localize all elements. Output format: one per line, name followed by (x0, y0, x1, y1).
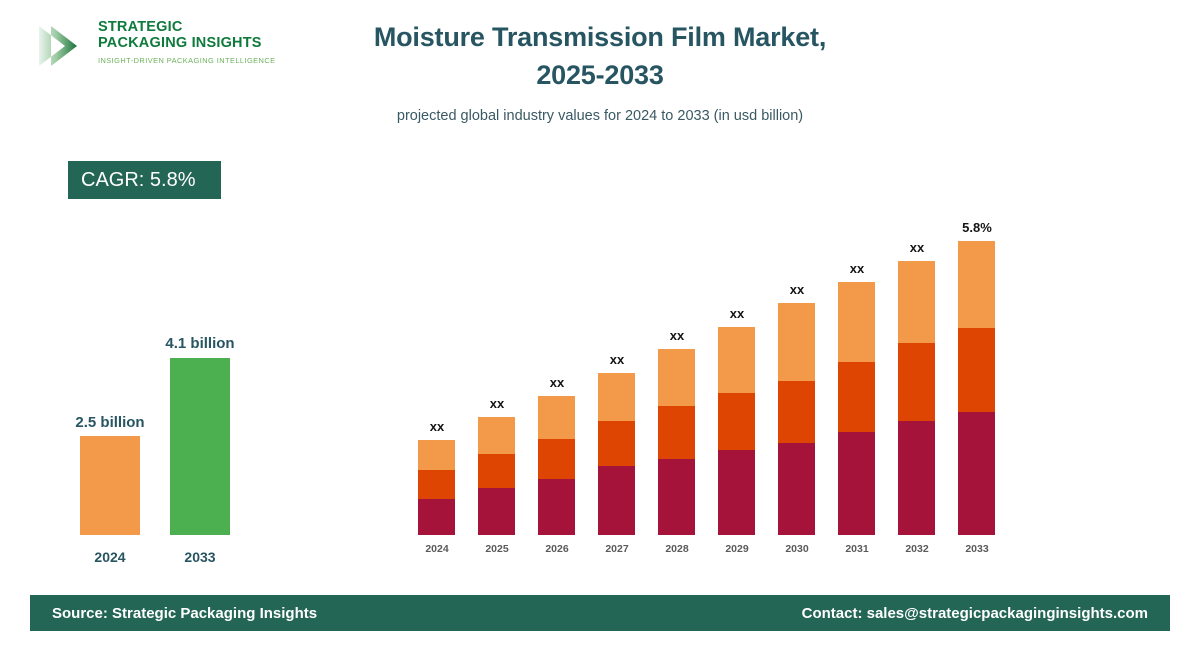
segment-1 (658, 459, 695, 535)
comparison-bar-chart: 2.5 billion 2024 4.1 billion 2033 (40, 300, 290, 580)
stacked-bar-year-label: 2027 (587, 543, 647, 555)
stacked-bar-top-label: xx (697, 306, 777, 321)
segment-3 (898, 261, 935, 343)
segment-1 (958, 412, 995, 535)
segment-3 (598, 373, 635, 421)
segment-1 (418, 499, 455, 535)
segment-3 (478, 417, 515, 454)
segment-1 (538, 479, 575, 535)
cagr-label: CAGR: 5.8% (81, 169, 195, 192)
brand-tagline: INSIGHT-DRIVEN PACKAGING INTELLIGENCE (98, 56, 276, 65)
segment-1 (898, 421, 935, 535)
stacked-bar-column (658, 349, 695, 535)
segment-2 (538, 439, 575, 479)
segment-2 (478, 454, 515, 488)
bar-label-2033: 2033 (170, 549, 230, 565)
segment-1 (778, 443, 815, 535)
stacked-bar-column (478, 417, 515, 535)
stacked-bar-column (778, 303, 815, 535)
segment-2 (718, 393, 755, 450)
stacked-bar-year-label: 2026 (527, 543, 587, 555)
stacked-bar-top-label: xx (877, 240, 957, 255)
segment-2 (958, 328, 995, 412)
segment-3 (778, 303, 815, 381)
bar-2024 (80, 436, 140, 535)
footer-source: Source: Strategic Packaging Insights (52, 605, 317, 622)
header-block: Moisture Transmission Film Market, 2025-… (300, 18, 900, 124)
segment-2 (418, 470, 455, 499)
segment-2 (598, 421, 635, 466)
stacked-bar-top-label: xx (757, 282, 837, 297)
segment-1 (838, 432, 875, 535)
segment-3 (958, 241, 995, 328)
stacked-bar-top-label: xx (457, 396, 537, 411)
bar-label-2024: 2024 (80, 549, 140, 565)
stacked-bar-year-label: 2029 (707, 543, 767, 555)
footer-contact[interactable]: Contact: sales@strategicpackaginginsight… (802, 605, 1148, 622)
page-subtitle: projected global industry values for 202… (300, 108, 900, 124)
stacked-bar-year-label: 2025 (467, 543, 527, 555)
brand-logo: STRATEGIC PACKAGING INSIGHTS INSIGHT-DRI… (30, 16, 290, 78)
page-title: Moisture Transmission Film Market, 2025-… (300, 18, 900, 94)
stacked-bar-column (898, 261, 935, 535)
segment-1 (718, 450, 755, 535)
segment-3 (718, 327, 755, 393)
brand-line-1: STRATEGIC (98, 20, 276, 36)
stacked-bar-year-label: 2030 (767, 543, 827, 555)
stacked-bar-column (958, 241, 995, 535)
stacked-bar-top-label: xx (517, 375, 597, 390)
stacked-bar-year-label: 2024 (407, 543, 467, 555)
chevron-right-icon (35, 20, 87, 72)
segment-3 (658, 349, 695, 406)
bar-2033 (170, 358, 230, 535)
segment-1 (598, 466, 635, 535)
stacked-bar-column (538, 396, 575, 535)
segment-3 (418, 440, 455, 470)
page-title-line-2: 2025-2033 (300, 56, 900, 94)
page-title-line-1: Moisture Transmission Film Market, (300, 18, 900, 56)
segment-2 (658, 406, 695, 459)
segment-3 (838, 282, 875, 362)
segment-2 (778, 381, 815, 443)
stacked-bar-column (838, 282, 875, 535)
stacked-bar-column (598, 373, 635, 535)
stacked-bar-top-label: 5.8% (937, 220, 1017, 235)
stacked-bar-year-label: 2028 (647, 543, 707, 555)
stacked-bar-top-label: xx (577, 352, 657, 367)
stacked-bar-top-label: xx (397, 419, 477, 434)
stacked-bar-year-label: 2032 (887, 543, 947, 555)
footer-bar: Source: Strategic Packaging Insights Con… (30, 595, 1170, 631)
cagr-badge: CAGR: 5.8% (68, 161, 221, 199)
projection-stacked-bar-chart: xx 2024 xx 2025 xx 2026 xx (408, 195, 1008, 560)
stacked-bar-year-label: 2033 (947, 543, 1007, 555)
brand-line-2: PACKAGING INSIGHTS (98, 36, 276, 52)
stacked-bar-column (718, 327, 755, 535)
segment-1 (478, 488, 515, 535)
stacked-bar-top-label: xx (637, 328, 717, 343)
bar-value-2024: 2.5 billion (40, 414, 180, 431)
stacked-bar-year-label: 2031 (827, 543, 887, 555)
segment-2 (898, 343, 935, 421)
segment-3 (538, 396, 575, 439)
segment-2 (838, 362, 875, 432)
stacked-bar-column (418, 440, 455, 535)
stacked-bar-top-label: xx (817, 261, 897, 276)
brand-wordmark: STRATEGIC PACKAGING INSIGHTS INSIGHT-DRI… (98, 20, 276, 65)
bar-value-2033: 4.1 billion (130, 335, 270, 352)
